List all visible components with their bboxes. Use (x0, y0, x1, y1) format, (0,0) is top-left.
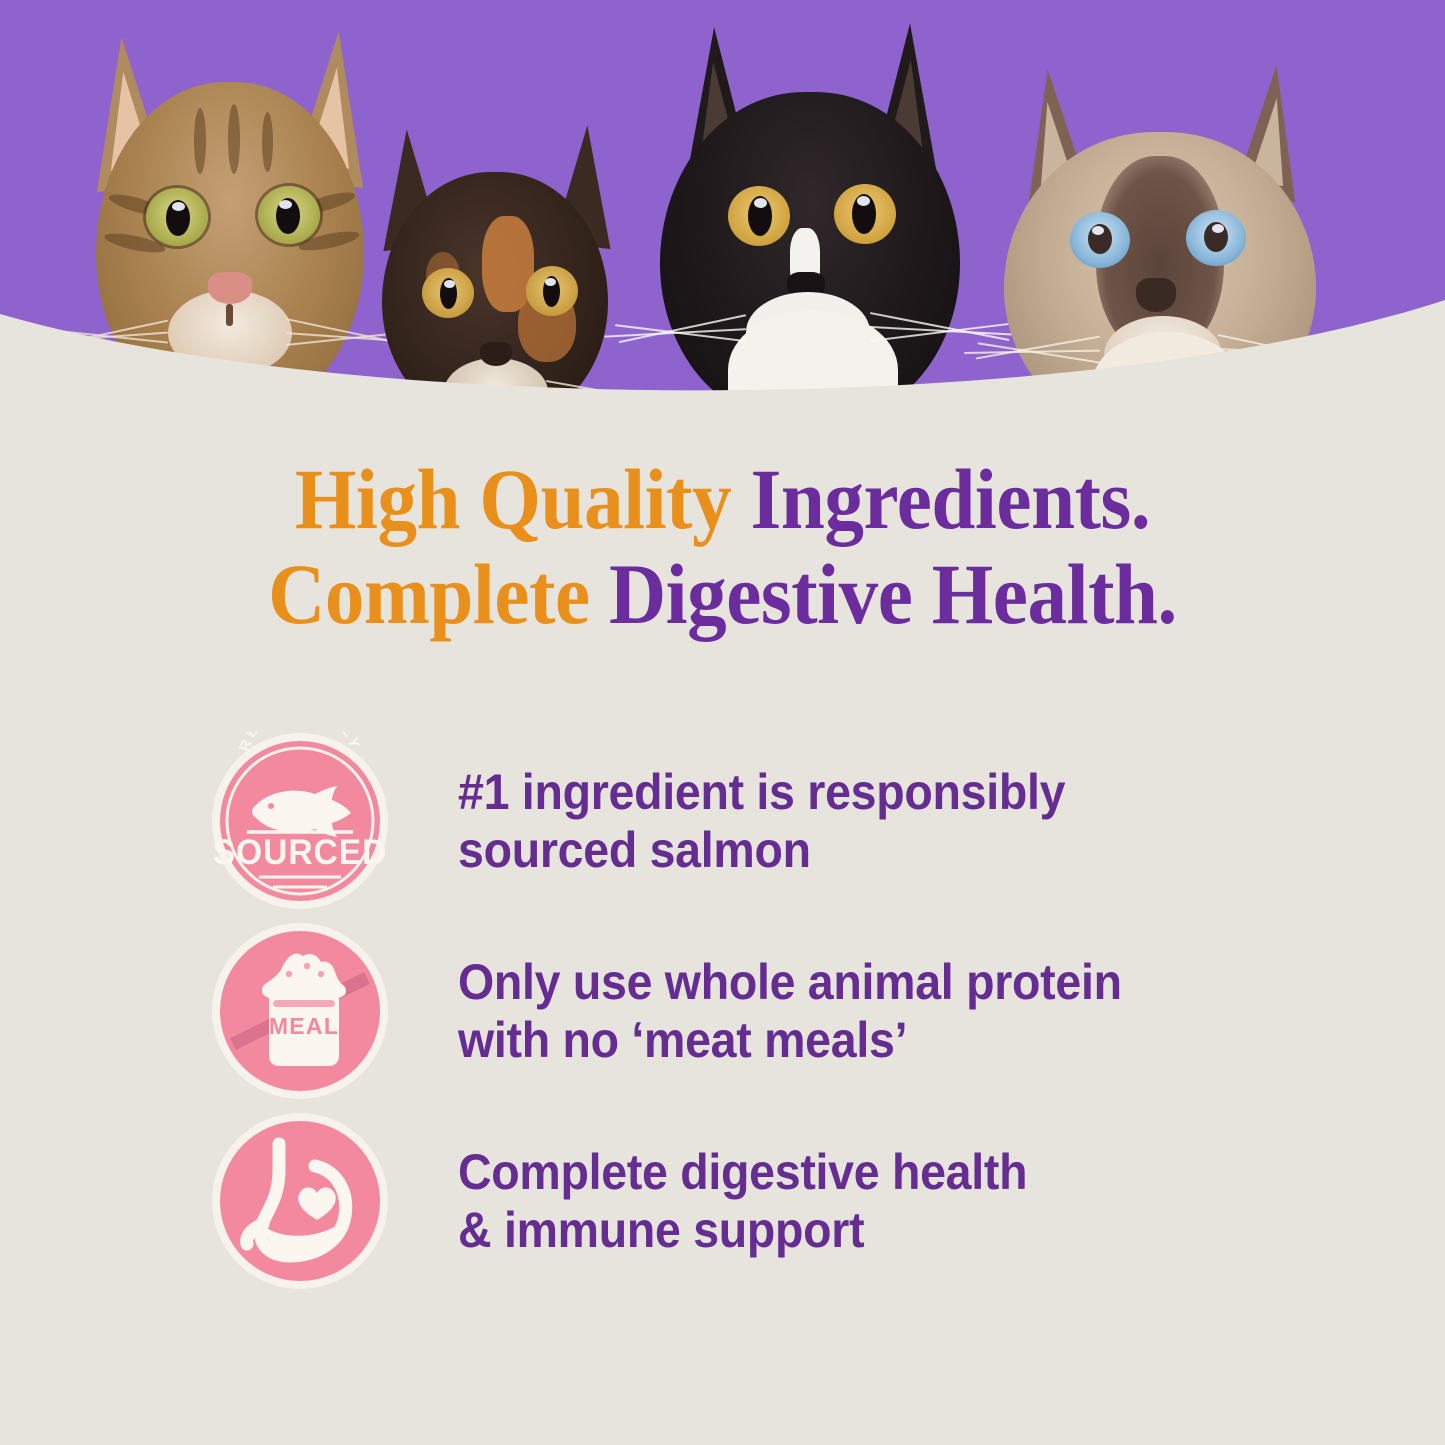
benefit-item-responsibly-sourced: RESPONSIBLY SOURCED #1 ingredient is res… (0, 726, 1445, 916)
cat-mouth (226, 304, 233, 326)
benefit-item-digestive-health: Complete digestive health & immune suppo… (0, 1106, 1445, 1296)
cat-eye-glint (857, 196, 870, 206)
benefit-list: RESPONSIBLY SOURCED #1 ingredient is res… (0, 726, 1445, 1296)
cat-muzzle (444, 358, 548, 420)
cat-forehead-stripe (228, 104, 240, 174)
sack-label-text: MEAL (269, 1013, 339, 1039)
cat-tortoiseshell (370, 120, 620, 420)
cat-nose (480, 342, 512, 366)
seal-main-text: SOURCED (213, 833, 388, 872)
cat-eye-glint (1212, 224, 1224, 233)
no-meal-bag-icon: MEAL (211, 922, 389, 1100)
headline-line1-main: Ingredients. (750, 451, 1150, 547)
cat-photo-banner (0, 0, 1445, 420)
headline-line-1: High Quality Ingredients. (58, 452, 1387, 547)
benefit-text: Only use whole animal protein with no ‘m… (458, 953, 1122, 1069)
cat-eye-glint (172, 202, 185, 211)
cat-eye-glint (754, 198, 767, 208)
cat-tabby (78, 20, 378, 420)
headline-line1-highlight: High Quality (295, 451, 751, 547)
headline-line2-highlight: Complete (268, 546, 609, 642)
cat-eye-glint (279, 200, 292, 209)
headline-line-2: Complete Digestive Health. (58, 547, 1387, 642)
cat-forehead-stripe (194, 108, 206, 174)
benefit-item-no-meat-meals: MEAL Only use whole animal protein with … (0, 916, 1445, 1106)
cat-tuxedo (650, 20, 970, 420)
cat-nose (1136, 278, 1176, 312)
cat-nose (208, 272, 252, 304)
headline-line2-main: Digestive Health. (609, 546, 1177, 642)
cat-eye-glint (1092, 226, 1104, 235)
benefit-text: Complete digestive health & immune suppo… (458, 1143, 1027, 1259)
cat-ragdoll (1000, 48, 1320, 420)
cat-forehead-stripe (262, 112, 273, 172)
stomach-heart-icon (211, 1112, 389, 1290)
cat-eye-glint (545, 278, 556, 286)
benefit-text: #1 ingredient is responsibly sourced sal… (458, 763, 1065, 879)
cat-eye-glint (444, 280, 455, 288)
page-title: High Quality Ingredients. Complete Diges… (58, 452, 1387, 641)
responsibly-sourced-seal-icon: RESPONSIBLY SOURCED (211, 732, 389, 910)
